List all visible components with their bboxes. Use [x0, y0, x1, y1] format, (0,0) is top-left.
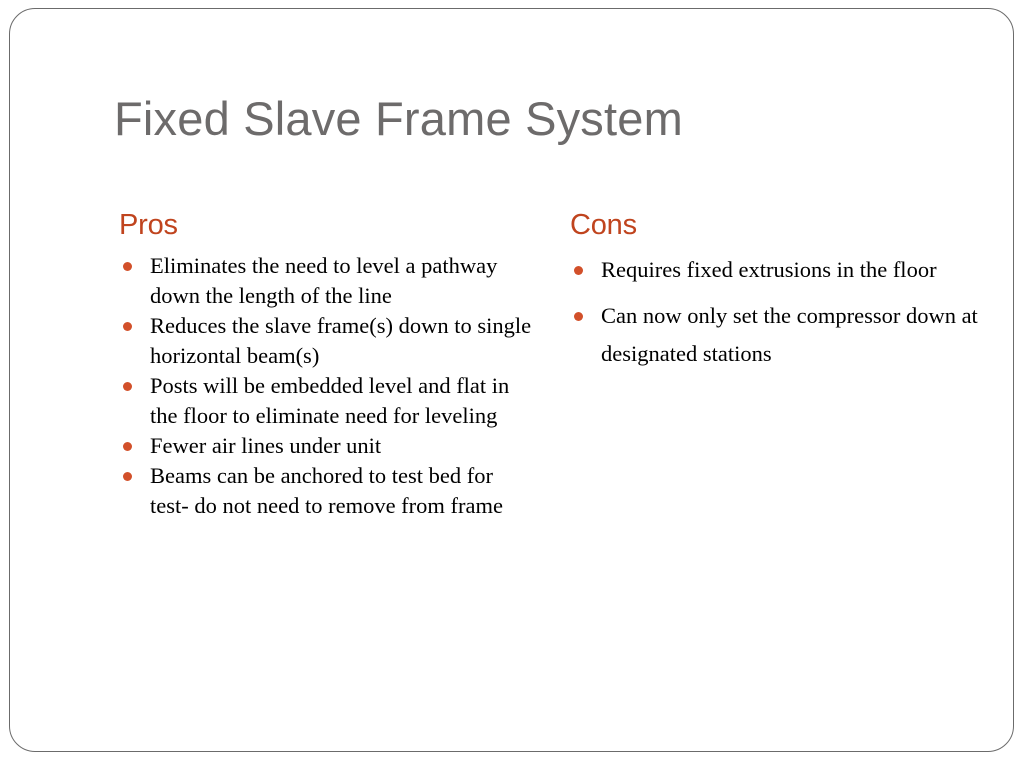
list-item-text: Beams can be anchored to test bed for te… [150, 463, 503, 518]
list-item-text: Posts will be embedded level and flat in… [150, 373, 509, 428]
list-item-text: Reduces the slave frame(s) down to singl… [150, 313, 531, 368]
list-item: Reduces the slave frame(s) down to singl… [114, 311, 534, 371]
cons-heading: Cons [570, 209, 995, 241]
pros-bullet-list: Eliminates the need to level a pathway d… [114, 251, 534, 521]
bullet-icon [123, 262, 132, 271]
list-item: Fewer air lines under unit [114, 431, 534, 461]
list-item: Posts will be embedded level and flat in… [114, 371, 534, 431]
bullet-icon [123, 322, 132, 331]
list-item: Can now only set the compressor down at … [565, 297, 995, 373]
list-item: Beams can be anchored to test bed for te… [114, 461, 534, 521]
list-item: Eliminates the need to level a pathway d… [114, 251, 534, 311]
bullet-icon [574, 312, 583, 321]
list-item-text: Requires fixed extrusions in the floor [601, 257, 937, 282]
list-item-text: Eliminates the need to level a pathway d… [150, 253, 497, 308]
bullet-icon [123, 382, 132, 391]
list-item: Requires fixed extrusions in the floor [565, 251, 995, 289]
cons-bullet-list: Requires fixed extrusions in the floor C… [565, 251, 995, 373]
page-title: Fixed Slave Frame System [114, 91, 974, 147]
pros-heading: Pros [119, 209, 534, 241]
cons-column: Cons Requires fixed extrusions in the fl… [565, 209, 995, 381]
bullet-icon [574, 266, 583, 275]
pros-column: Pros Eliminates the need to level a path… [114, 209, 534, 521]
slide-canvas: Fixed Slave Frame System Pros Eliminates… [9, 8, 1014, 752]
list-item-text: Can now only set the compressor down at … [601, 303, 978, 366]
bullet-icon [123, 442, 132, 451]
bullet-icon [123, 472, 132, 481]
list-item-text: Fewer air lines under unit [150, 433, 381, 458]
